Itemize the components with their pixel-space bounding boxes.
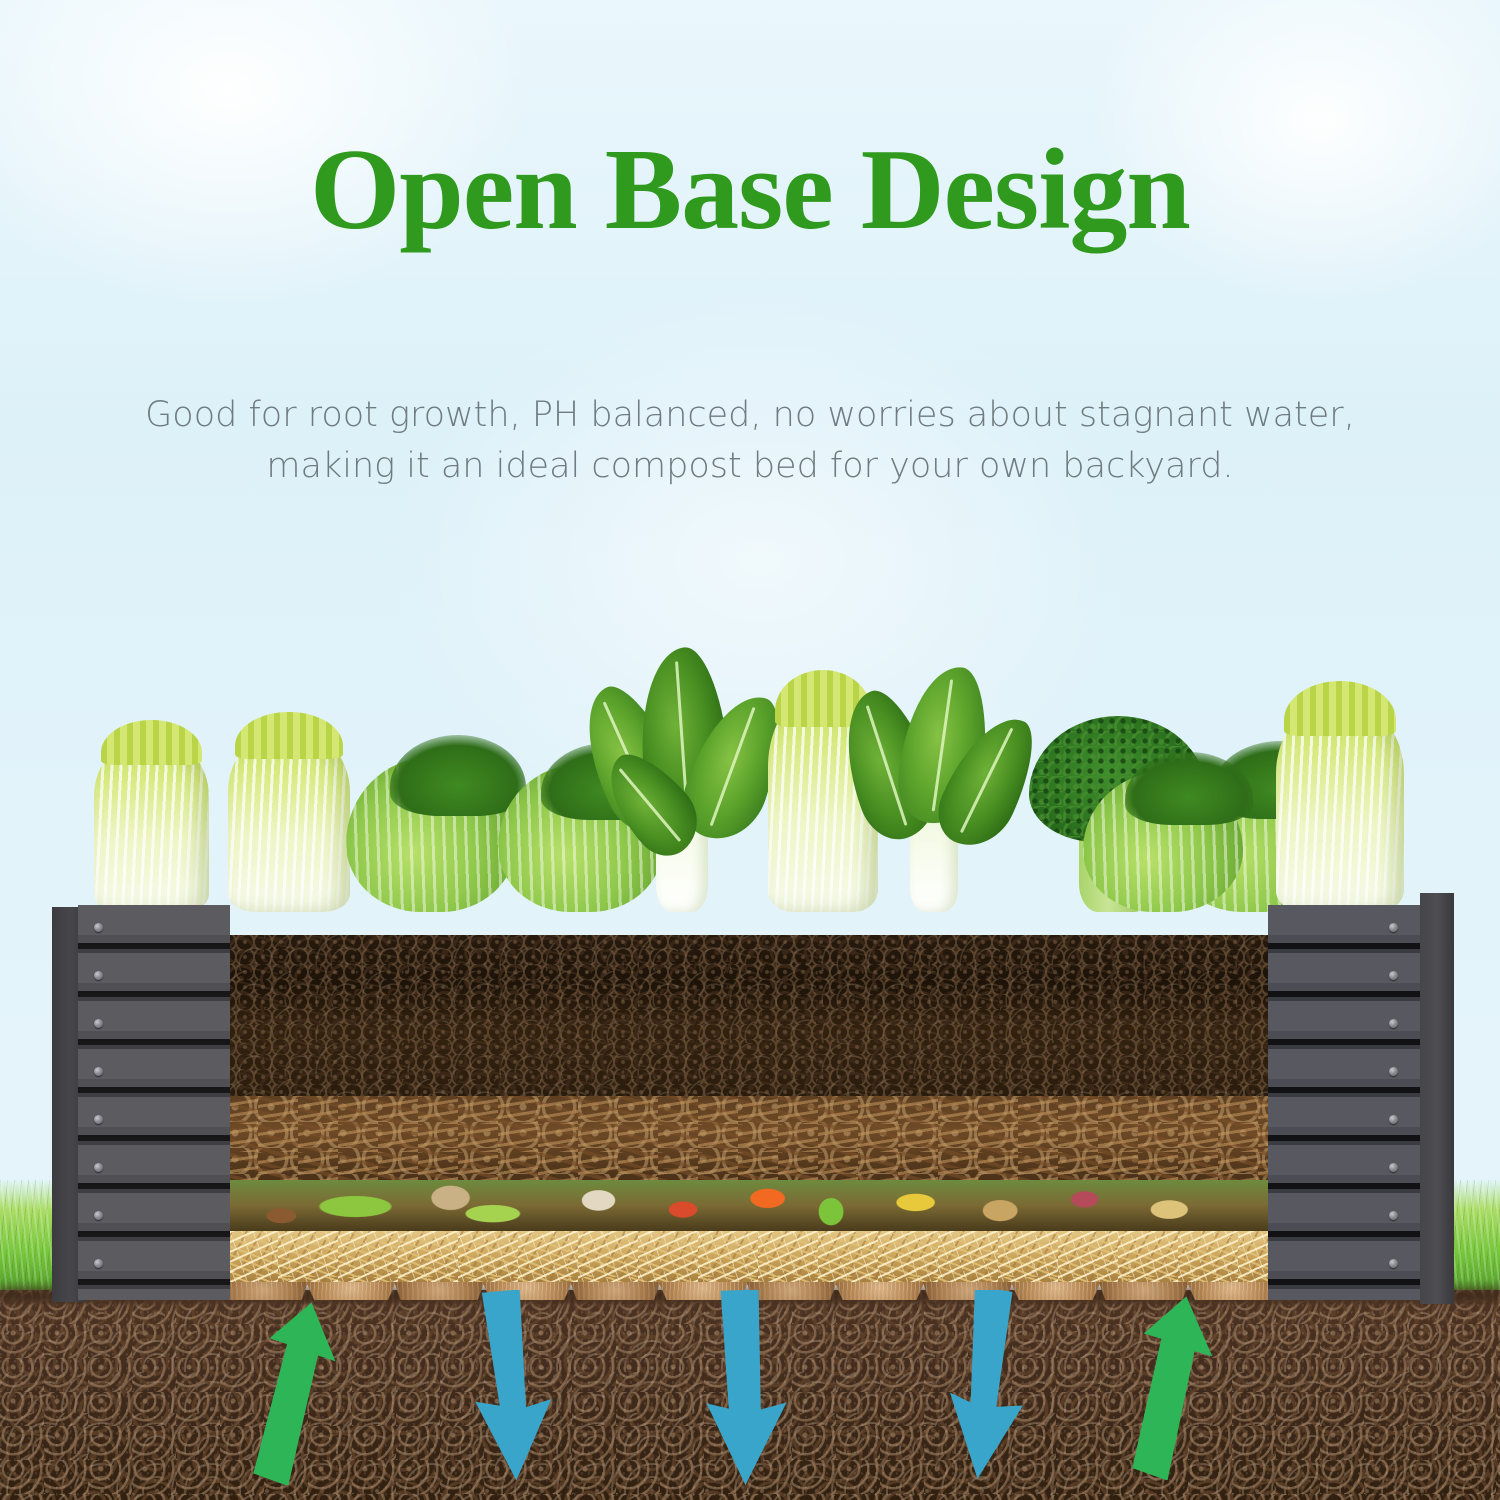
subtitle-line-1: Good for root growth, PH balanced, no wo… xyxy=(70,390,1430,441)
raised-garden-bed xyxy=(78,905,1420,1300)
screw-icon xyxy=(1389,1259,1398,1268)
screw-icon xyxy=(1389,923,1398,932)
drainage-arrow-1 xyxy=(462,1290,572,1480)
screw-icon xyxy=(94,971,103,980)
plant-round-cabbage-1 xyxy=(346,757,516,912)
airflow-arrow-right xyxy=(1108,1295,1218,1480)
bed-corner-post-left xyxy=(78,905,230,1300)
bark-mulch-layer xyxy=(218,1096,1275,1180)
plant-bok-choy-2 xyxy=(848,662,1033,912)
subtitle-line-2: making it an ideal compost bed for your … xyxy=(70,441,1430,492)
corrugated-panel-right xyxy=(1268,905,1420,1300)
plant-napa-cabbage-1 xyxy=(94,737,209,912)
screw-icon xyxy=(1389,1067,1398,1076)
log xyxy=(218,1282,308,1300)
page-title: Open Base Design xyxy=(0,132,1500,248)
screw-icon xyxy=(94,1067,103,1076)
screw-icon xyxy=(1389,1211,1398,1220)
bed-cross-section xyxy=(218,935,1275,1300)
kitchen-scraps-layer xyxy=(218,1180,1275,1231)
screw-icon xyxy=(94,923,103,932)
screw-icon xyxy=(94,1019,103,1028)
straw-layer xyxy=(218,1231,1275,1282)
log xyxy=(835,1282,925,1300)
plant-napa-cabbage-4 xyxy=(1276,702,1404,912)
screw-icon xyxy=(94,1163,103,1172)
plant-round-cabbage-4 xyxy=(1083,772,1243,912)
corrugated-panel-left xyxy=(78,905,230,1300)
post-side-panel-right xyxy=(1420,893,1454,1304)
drainage-arrow-3 xyxy=(938,1290,1048,1480)
page-subtitle: Good for root growth, PH balanced, no wo… xyxy=(70,390,1430,492)
vegetable-row xyxy=(78,612,1420,912)
screw-icon xyxy=(1389,1019,1398,1028)
screw-icon xyxy=(94,1211,103,1220)
airflow-arrow-left xyxy=(228,1300,338,1485)
bed-corner-post-right xyxy=(1268,905,1420,1300)
topsoil-compost-layer xyxy=(218,935,1275,1096)
log xyxy=(570,1282,660,1300)
screw-icon xyxy=(94,1259,103,1268)
screw-icon xyxy=(94,1115,103,1124)
plant-napa-cabbage-2 xyxy=(228,730,350,912)
screw-icon xyxy=(1389,1163,1398,1172)
screw-icon xyxy=(1389,971,1398,980)
log xyxy=(306,1282,396,1300)
plant-bok-choy-1 xyxy=(598,647,788,912)
drainage-arrow-2 xyxy=(690,1290,800,1485)
screw-icon xyxy=(1389,1115,1398,1124)
